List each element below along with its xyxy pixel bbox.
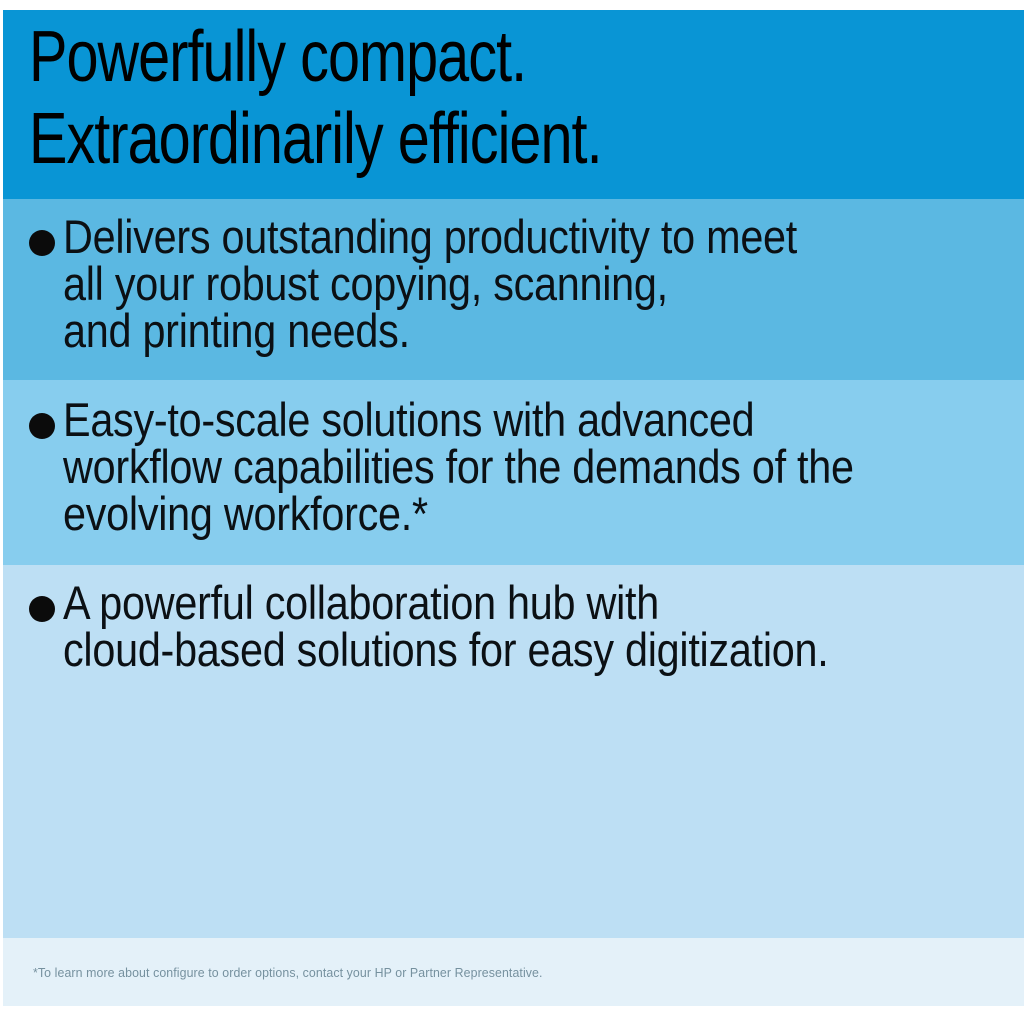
list-item: Easy-to-scale solutions with advanced wo… <box>29 396 962 537</box>
list-item: A powerful collaboration hub with cloud-… <box>29 579 933 673</box>
bullet-line: all your robust copying, scanning, <box>63 260 797 307</box>
bullet-dot-icon <box>29 413 55 439</box>
bullet-line: workflow capabilities for the demands of… <box>63 443 854 490</box>
page-title: Powerfully compact. Extraordinarily effi… <box>29 16 825 180</box>
headline-line-1: Powerfully compact. <box>29 16 825 98</box>
bullet-line: and printing needs. <box>63 307 797 354</box>
left-gutter <box>0 0 3 1024</box>
marketing-slide: Powerfully compact. Extraordinarily effi… <box>0 0 1024 1024</box>
headline-line-2: Extraordinarily efficient. <box>29 98 825 180</box>
bullet-line: Delivers outstanding productivity to mee… <box>63 213 797 260</box>
list-item: Delivers outstanding productivity to mee… <box>29 213 897 354</box>
bullet-line: evolving workforce.* <box>63 490 854 537</box>
top-gutter <box>0 0 1024 10</box>
bullet-text-productivity: Delivers outstanding productivity to mee… <box>63 213 797 354</box>
bullet-text-scalability: Easy-to-scale solutions with advanced wo… <box>63 396 854 537</box>
bullet-line: cloud-based solutions for easy digitizat… <box>63 626 828 673</box>
bullet-line: Easy-to-scale solutions with advanced <box>63 396 854 443</box>
bullet-line: A powerful collaboration hub with <box>63 579 828 626</box>
bullet-dot-icon <box>29 596 55 622</box>
headline-band: Powerfully compact. Extraordinarily effi… <box>3 10 1024 199</box>
footnote-text: *To learn more about configure to order … <box>33 965 543 981</box>
bottom-gutter <box>0 1006 1024 1024</box>
bullet-text-collaboration: A powerful collaboration hub with cloud-… <box>63 579 828 673</box>
bullet-dot-icon <box>29 230 55 256</box>
